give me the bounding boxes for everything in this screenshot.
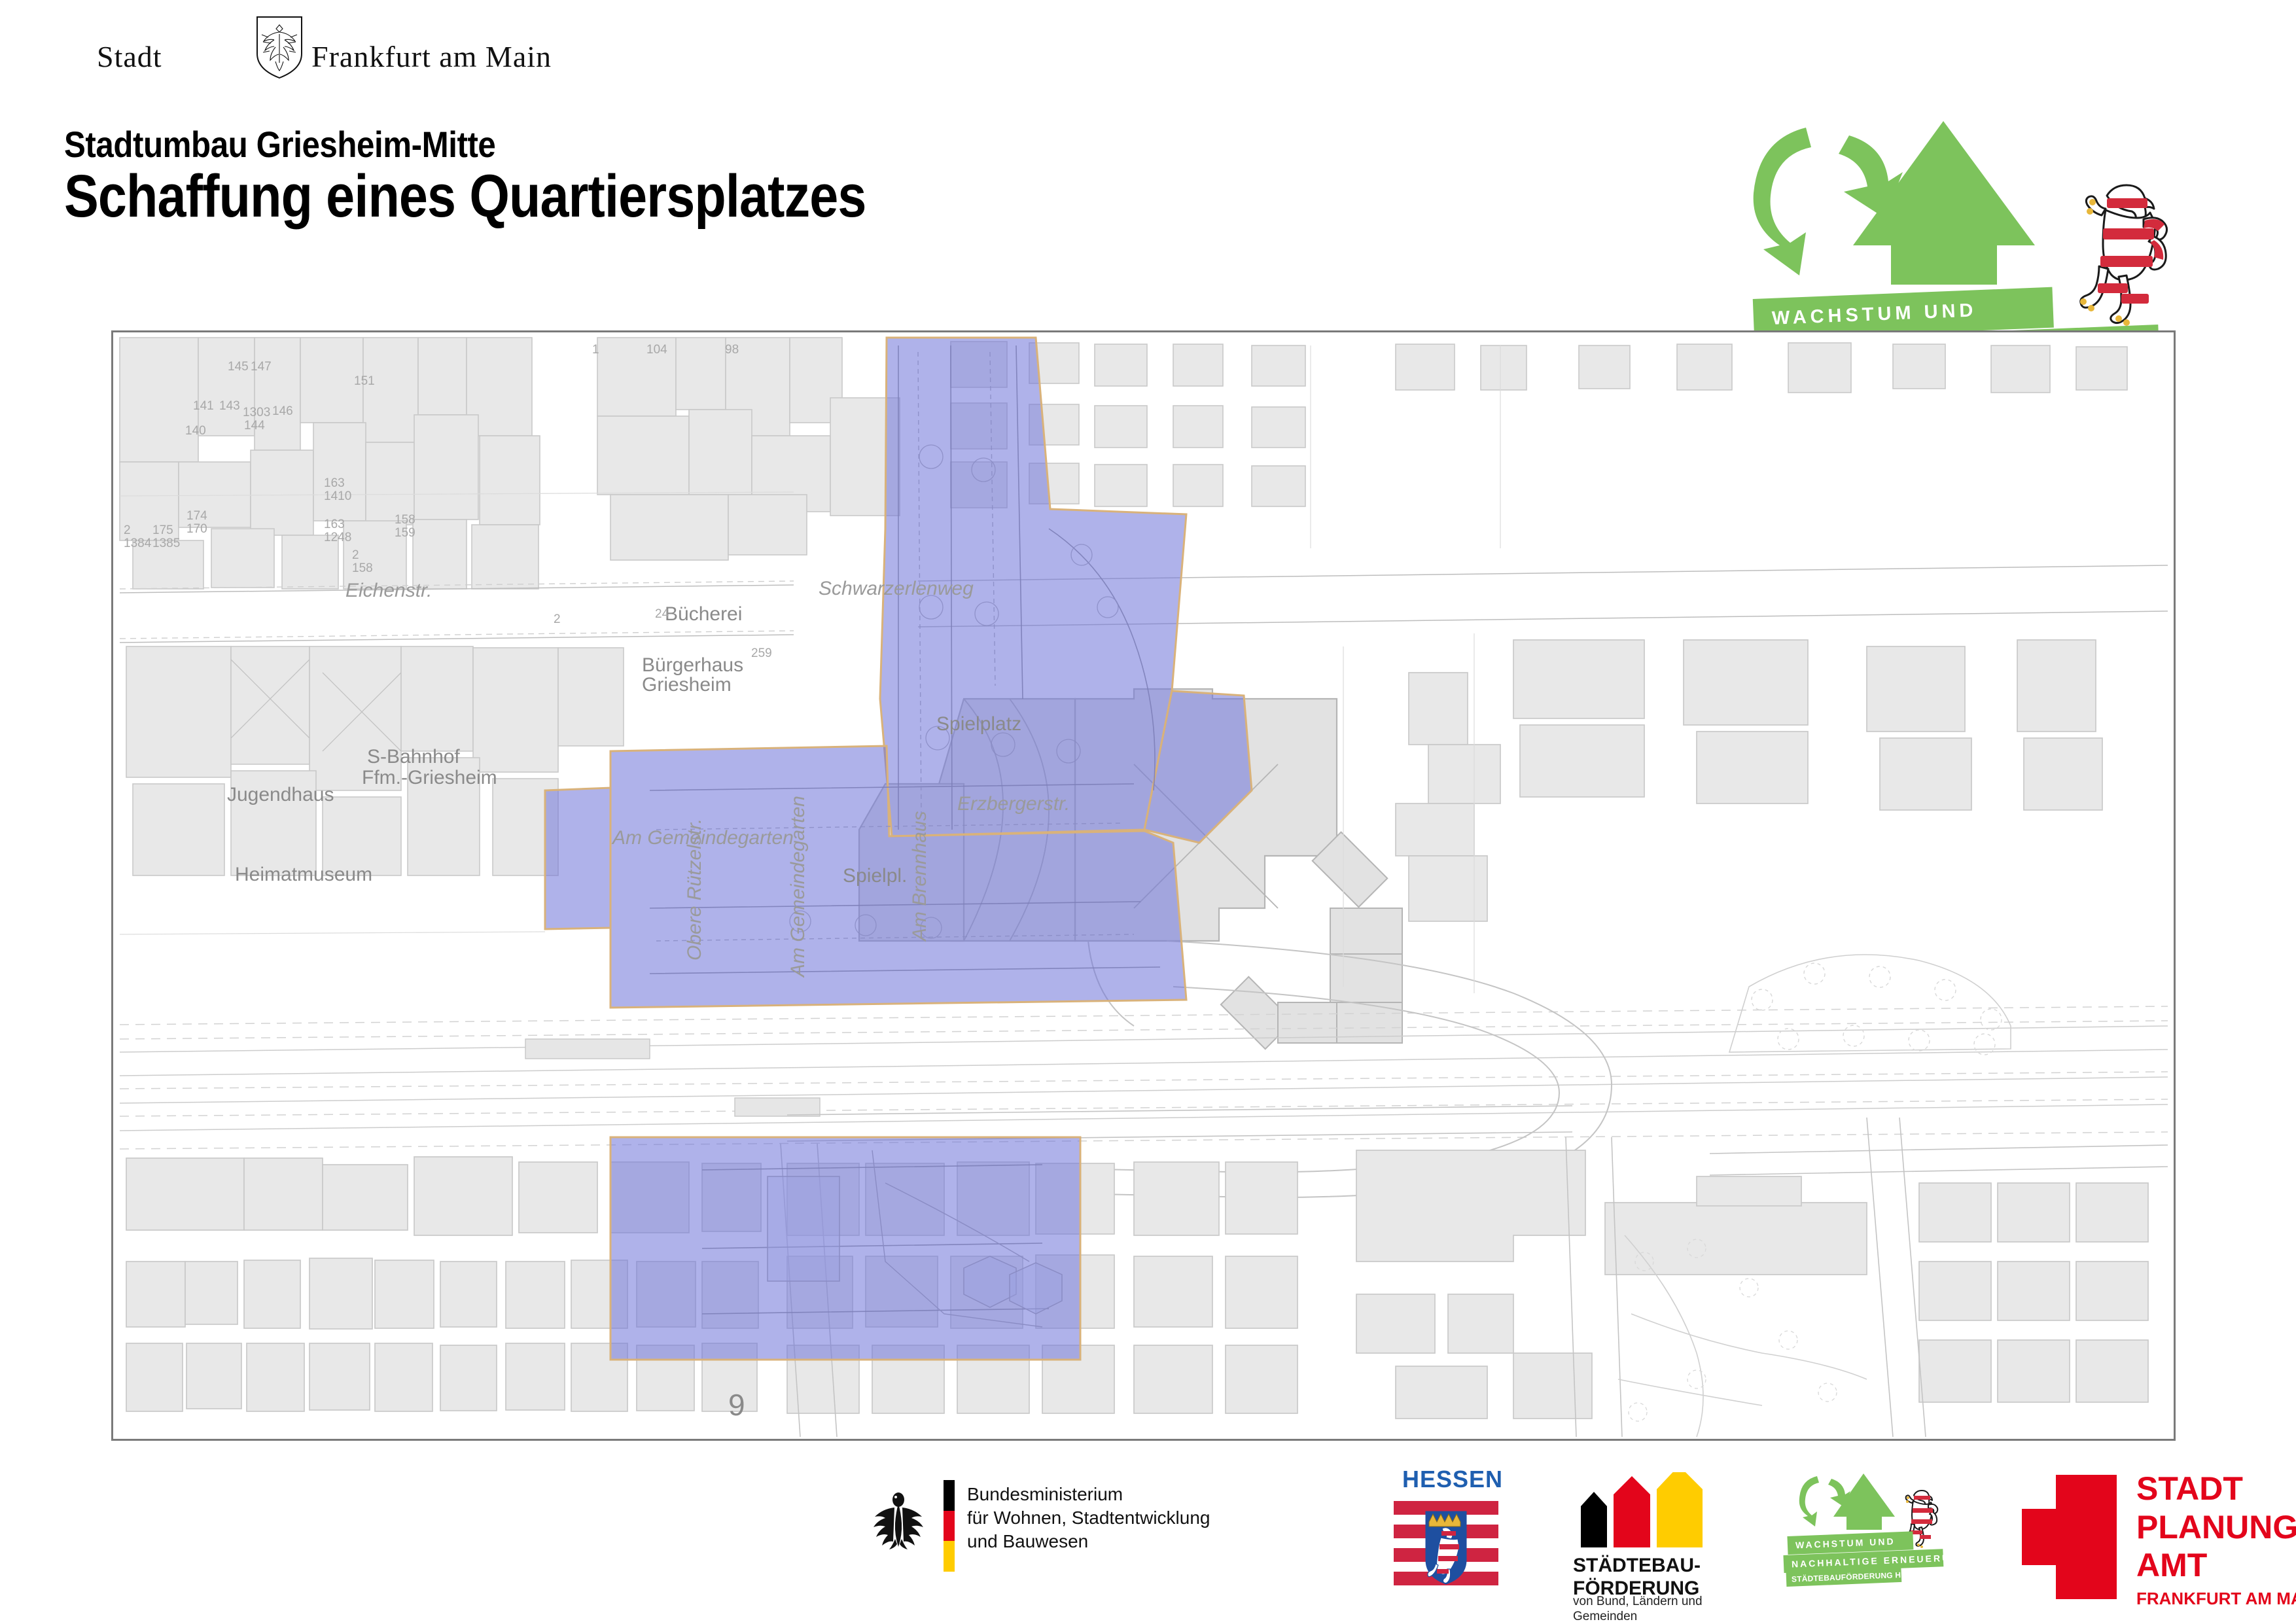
hessen-logo: HESSEN [1394,1466,1511,1616]
staedtebau-line1: STÄDTEBAU- [1573,1555,1701,1578]
german-flag-bar-icon [944,1480,955,1572]
parcel-number: 1385 [152,537,180,551]
city-logo-part1: Stadt [97,39,162,74]
bmwsb-line1: Bundesministerium [967,1483,1210,1506]
parcel-number: 2 [352,548,359,563]
bundesadler-icon [870,1485,927,1551]
page-header: Stadt Frankfu [0,0,2296,314]
bundesministerium-logo: Bundesministerium für Wohnen, Stadtentwi… [870,1466,1210,1616]
parcel-number: 98 [725,343,739,357]
hessen-lion-icon [2061,173,2185,330]
spa-line1: STADT [2136,1470,2296,1508]
parcel-number: 1384 [124,537,151,551]
hessen-label: HESSEN [1394,1466,1511,1493]
parcel-number: 159 [395,526,415,540]
three-houses-icon [1574,1472,1718,1547]
stadtplanungsamt-mark-icon [2022,1475,2117,1599]
stadt-frankfurt-logo: Stadt Frankfu [97,34,516,81]
staedtebau-subtext: von Bund, Ländern und Gemeinden [1573,1594,1703,1624]
page-title: Schaffung eines Quartiersplatzes [64,162,866,231]
parcel-number: 24 [655,607,669,622]
city-logo-part2: Frankfurt am Main [311,39,552,74]
bmwsb-line3: und Bauwesen [967,1530,1210,1553]
parcel-number: 151 [354,374,375,389]
parcel-number: 147 [251,360,272,374]
spa-subline: FRANKFURT AM MAIN [2136,1589,2296,1609]
parcel-number: 146 [272,404,293,419]
hessen-flag-icon [1394,1497,1498,1595]
map-canvas [113,332,2174,1439]
parcel-number: 158 [352,561,373,576]
frankfurt-eagle-crest-icon [254,14,305,80]
parcel-number: 1410 [324,489,351,504]
parcel-number: 1 [592,343,599,357]
parcel-number: 259 [751,646,772,661]
parcel-number: 163 [324,518,345,532]
bmwsb-text: Bundesministerium für Wohnen, Stadtentwi… [967,1483,1210,1553]
parcel-number: 143 [219,399,240,414]
parcel-number: 174 [186,509,207,523]
parcel-number: 141 [193,399,214,414]
spa-line3: AMT [2136,1546,2296,1585]
parcel-number: 175 [152,523,173,538]
parcel-number: 163 [324,476,345,491]
growth-arrows-icon [1727,121,2094,311]
cadastral-map[interactable]: Eichenstr. Schwarzerlenweg Erzbergerstr.… [111,330,2176,1441]
parcel-number: 158 [395,513,415,527]
project-subtitle: Stadtumbau Griesheim-Mitte [64,123,495,166]
parcel-number: 145 [228,360,249,374]
parcel-number: 140 [185,424,206,438]
parcel-number: 170 [186,522,207,537]
parcel-number: 1303 [243,406,270,420]
spa-line2: PLANUNGS [2136,1508,2296,1547]
page-footer: Bundesministerium für Wohnen, Stadtentwi… [0,1466,2296,1623]
parcel-number: 2 [124,523,131,538]
stadtplanungsamt-text: STADT PLANUNGS AMT [2136,1470,2296,1585]
parcel-number: 2 [554,612,561,627]
parcel-number: 104 [646,343,667,357]
staedtebau-sub1: von Bund, Ländern und [1573,1594,1703,1609]
parcel-number: 1248 [324,531,351,545]
wachstum-erneuerung-logo-small: Wachstum und Nachhaltige Erneuerung Städ… [1786,1466,1983,1616]
hessen-shield-icon [1424,1509,1468,1586]
staedtebau-sub2: Gemeinden [1573,1609,1703,1624]
parcel-number: 144 [244,419,265,433]
bmwsb-line2: für Wohnen, Stadtentwicklung [967,1506,1210,1530]
staedtebaufoerderung-logo: STÄDTEBAU- FÖRDERUNG von Bund, Ländern u… [1557,1466,1773,1616]
stadtplanungsamt-logo: STADT PLANUNGS AMT FRANKFURT AM MAIN [2022,1466,2284,1616]
